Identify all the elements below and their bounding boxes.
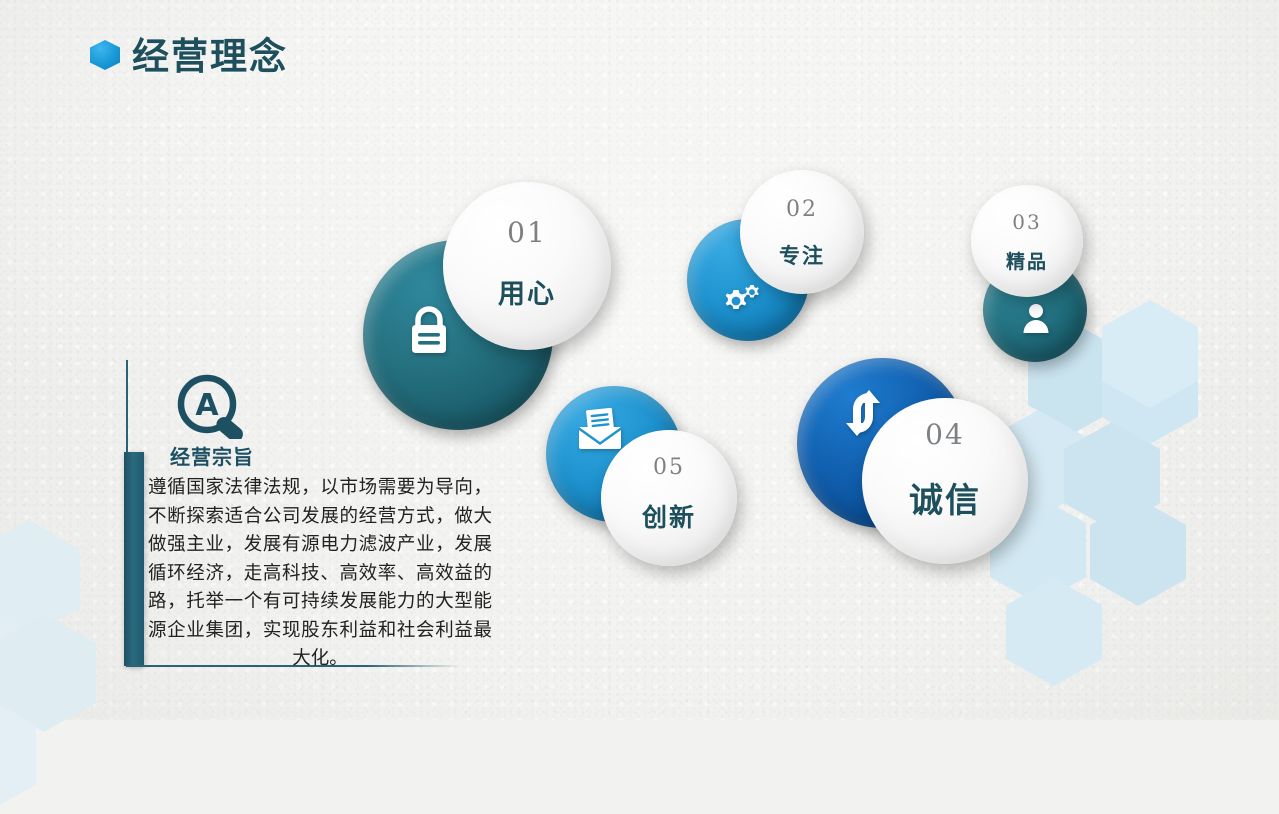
hexagon-shape — [1006, 578, 1102, 686]
accent-bar — [124, 452, 144, 666]
magnifier-a-icon: A — [176, 373, 268, 444]
purpose-body: 遵循国家法律法规，以市场需要为导向，不断探索适合公司发展的经营方式，做大做强主业… — [148, 474, 492, 674]
node-01-label: 用心 — [443, 272, 611, 311]
hexagon-shape — [1102, 336, 1198, 444]
person-icon — [1018, 300, 1054, 336]
node-02-label: 专注 — [740, 240, 864, 270]
node-03-white-disc[interactable] — [971, 185, 1083, 297]
node-04-number: 04 — [862, 418, 1028, 451]
node-02-number: 02 — [740, 197, 864, 222]
node-03-number: 03 — [971, 210, 1083, 234]
hexagon-decoration-right — [1040, 330, 1279, 730]
node-05-label: 创新 — [601, 498, 737, 534]
node-03-label: 精品 — [971, 247, 1083, 274]
hexagon-shape — [1064, 422, 1160, 530]
hexagon-decoration-upper-right — [1090, 300, 1279, 420]
gears-icon — [718, 280, 766, 322]
hexagon-shape — [1090, 498, 1186, 606]
hexagon-shape — [1102, 300, 1198, 408]
node-01-number: 01 — [443, 216, 611, 249]
purpose-heading: 经营宗旨 — [170, 441, 254, 470]
node-05-number: 05 — [601, 455, 737, 480]
node-04-label: 诚信 — [862, 473, 1028, 522]
node-01-white-disc[interactable] — [443, 182, 611, 350]
svg-text:A: A — [195, 388, 219, 423]
node-02-white-disc[interactable] — [740, 170, 864, 294]
envelope-icon — [574, 405, 626, 453]
